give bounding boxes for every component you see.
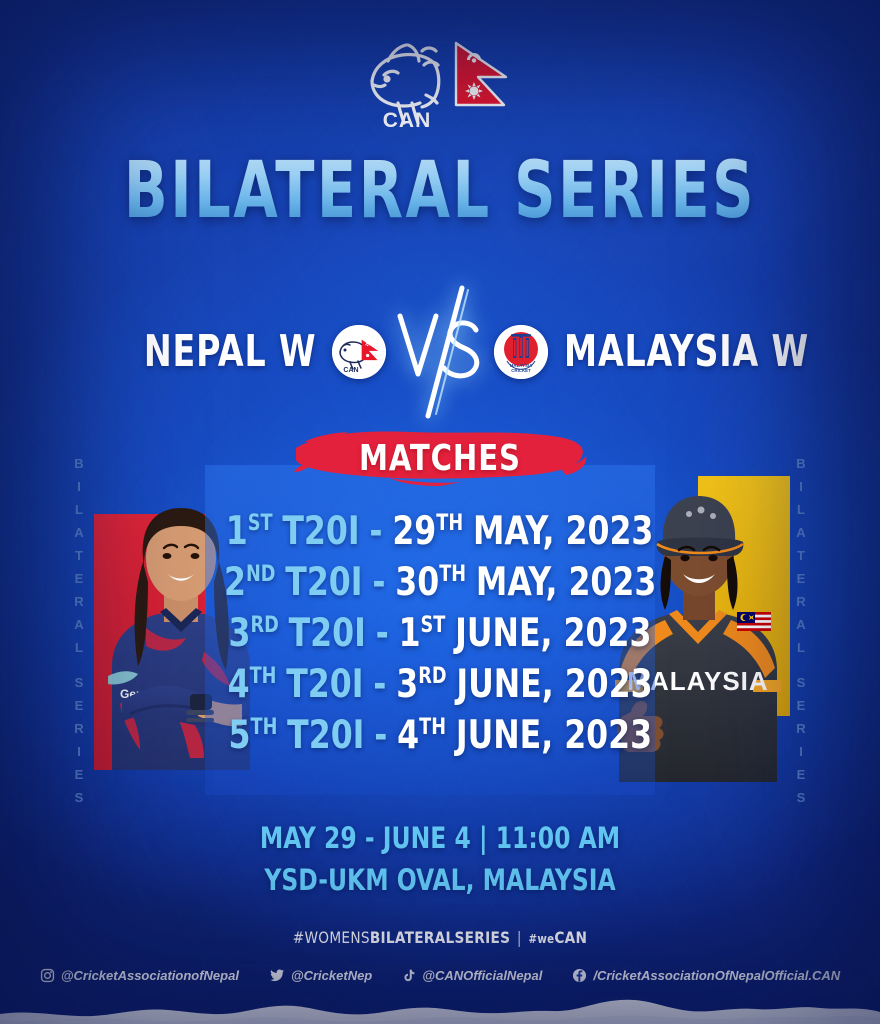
social-handle-label: /CricketAssociationOfNepalOfficial.CAN (593, 968, 840, 983)
team-left: NEPAL W CAN (96, 325, 386, 379)
svg-text:CRICKET: CRICKET (511, 368, 531, 373)
match-row: 1STT20I-29THMAY, 2023 (226, 512, 654, 563)
matchup-row: NEPAL W CAN (0, 300, 880, 404)
match-day-suffix: TH (439, 562, 466, 587)
match-day-suffix: ST (421, 613, 446, 638)
hashtags: #WOMENSBILATERALSERIES|#weCAN (22, 928, 858, 947)
match-format: T20I (283, 512, 360, 551)
match-dash: - (374, 716, 387, 755)
schedule-line: MAY 29 - JUNE 4 | 11:00 AM (44, 820, 836, 857)
match-row: 2NDT20I-30THMAY, 2023 (224, 563, 656, 614)
facebook-icon (572, 968, 587, 983)
side-vertical-letter-left: S (75, 786, 84, 809)
can-organization-logo: CAN (0, 30, 880, 136)
match-schedule-list: 1STT20I-29THMAY, 20232NDT20I-30THMAY, 20… (0, 512, 880, 767)
match-format: T20I (285, 563, 362, 602)
match-month-year: JUNE, 2023 (456, 665, 652, 704)
match-row: 5THT20I-4THJUNE, 2023 (228, 716, 652, 767)
match-row: 3RDT20I-1STJUNE, 2023 (229, 614, 652, 665)
side-vertical-letter-right: S (797, 786, 806, 809)
match-number-suffix: RD (251, 613, 279, 638)
match-month-year: MAY, 2023 (473, 512, 653, 551)
team-left-name: NEPAL W (143, 330, 316, 374)
match-number: 3RD (229, 614, 279, 653)
social-handle-label: @CricketNep (291, 968, 372, 983)
nepal-can-badge-icon: CAN (332, 325, 386, 379)
twitter-icon (269, 968, 285, 983)
match-number-suffix: TH (250, 715, 277, 740)
svg-text:CAN: CAN (383, 109, 432, 131)
venue-line: YSD-UKM OVAL, MALAYSIA (44, 862, 836, 899)
match-format: T20I (287, 716, 364, 755)
social-handle[interactable]: @CricketNep (269, 968, 372, 983)
match-number: 2ND (224, 563, 275, 602)
match-number-suffix: ST (248, 511, 273, 536)
team-right-name: MALAYSIA W (564, 330, 809, 374)
match-day: 4TH (397, 716, 446, 755)
match-dash: - (373, 665, 386, 704)
snow-texture-strip (0, 984, 880, 1024)
team-right: MALAYSIA CRICKET MALAYSIA W (494, 325, 784, 379)
match-number: 4TH (228, 665, 277, 704)
venue-block: MAY 29 - JUNE 4 | 11:00 AM YSD-UKM OVAL,… (0, 820, 880, 899)
match-month-year: JUNE, 2023 (456, 716, 652, 755)
tiktok-icon (402, 968, 416, 983)
match-day: 30TH (395, 563, 466, 602)
hashtag-bilateralseries: BILATERALSERIES (370, 928, 510, 947)
versus-graphic (388, 282, 492, 422)
social-handle[interactable]: /CricketAssociationOfNepalOfficial.CAN (572, 968, 840, 983)
instagram-icon (40, 968, 55, 983)
match-day: 3RD (396, 665, 446, 704)
match-number-suffix: ND (246, 562, 275, 587)
matches-heading-ribbon: MATCHES (0, 424, 880, 494)
match-format: T20I (286, 665, 363, 704)
hashtag-can: CAN (554, 928, 587, 947)
match-number: 1ST (226, 512, 273, 551)
match-dash: - (372, 563, 385, 602)
match-format: T20I (289, 614, 366, 653)
social-handle-label: @CricketAssociationofNepal (61, 968, 239, 983)
match-number: 5TH (228, 716, 277, 755)
match-day-suffix: RD (418, 664, 446, 689)
match-row: 4THT20I-3RDJUNE, 2023 (228, 665, 653, 716)
matches-heading-text: MATCHES (359, 438, 521, 479)
match-month-year: MAY, 2023 (476, 563, 656, 602)
social-handle[interactable]: @CANOfficialNepal (402, 968, 542, 983)
match-number-suffix: TH (249, 664, 276, 689)
match-month-year: JUNE, 2023 (455, 614, 651, 653)
poster-title: BILATERAL SERIES (79, 152, 801, 230)
can-rhino-logo-icon: CAN (364, 35, 450, 131)
hashtag-separator: | (517, 928, 522, 947)
svg-text:CAN: CAN (343, 367, 358, 374)
match-dash: - (370, 512, 383, 551)
match-day: 29TH (393, 512, 464, 551)
match-day: 1ST (399, 614, 446, 653)
hashtag-womens: #WOMENS (293, 928, 370, 947)
match-day-suffix: TH (419, 715, 446, 740)
malaysia-cricket-badge-icon: MALAYSIA CRICKET (494, 325, 548, 379)
nepal-flag-icon (454, 41, 516, 125)
match-day-suffix: TH (437, 511, 464, 536)
hashtag-we: #we (528, 932, 554, 946)
match-dash: - (376, 614, 389, 653)
social-handle[interactable]: @CricketAssociationofNepal (40, 968, 239, 983)
social-handle-label: @CANOfficialNepal (422, 968, 542, 983)
poster-canvas: CAN (0, 0, 880, 1024)
